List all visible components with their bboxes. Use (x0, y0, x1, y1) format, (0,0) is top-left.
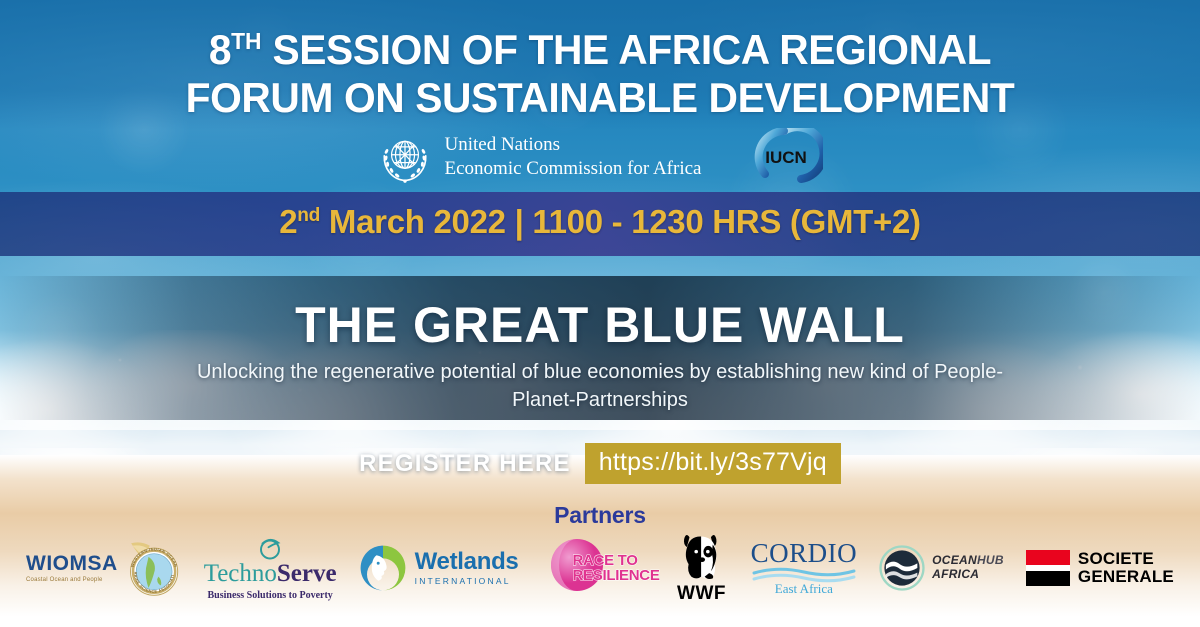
date-day-suffix: nd (297, 205, 320, 226)
date-rest: March 2022 | 1100 - 1230 HRS (GMT+2) (320, 203, 921, 240)
wetlands-wordmark: Wetlands INTERNATIONAL (415, 550, 519, 586)
un-line2: Economic Commission for Africa (445, 157, 702, 181)
oceanhub-wordmark: OCEANHUB AFRICA (932, 554, 1004, 582)
sg-line1: SOCIETE (1078, 550, 1174, 568)
technoserve-name-part2: Serve (277, 560, 337, 587)
organizer-logo-row: United Nations Economic Commission for A… (0, 128, 1200, 186)
subtitle: Unlocking the regenerative potential of … (0, 358, 1200, 415)
un-line1: United Nations (445, 133, 702, 157)
sg-line2: GENERALE (1078, 568, 1174, 586)
headline-line1-rest: SESSION OF THE AFRICA REGIONAL (262, 26, 992, 73)
r2r-line2: RESILIENCE (573, 568, 660, 583)
partner-logo-wetlands-international[interactable]: Wetlands INTERNATIONAL (359, 544, 519, 592)
technoserve-wordmark: TechnoServe (204, 561, 337, 586)
oceanhub-line1-a: OCEAN (932, 553, 977, 567)
partner-logo-wwf[interactable]: WWF (675, 532, 729, 605)
cordio-name: CORDIO (751, 540, 858, 567)
register-label: REGISTER HERE (359, 450, 571, 478)
date-day: 2 (279, 203, 297, 240)
wwf-panda-icon (675, 532, 729, 582)
wetlands-subname: INTERNATIONAL (415, 576, 511, 586)
oceanhub-line1: OCEANHUB (932, 554, 1004, 568)
societe-generale-mark-icon (1026, 550, 1070, 586)
un-emblem (377, 129, 433, 185)
sg-black-bar (1026, 571, 1070, 586)
wiomsa-tagline: Coastal Ocean and People (26, 577, 103, 583)
technoserve-swirl-icon (255, 535, 285, 561)
headline-ordinal: 8 (209, 26, 231, 73)
iucn-ring-icon: IUCN (745, 128, 823, 186)
register-block: REGISTER HERE https://bit.ly/3s77Vjq (0, 443, 1200, 484)
partner-logo-race-to-resilience[interactable]: RACE TO RESILIENCE (541, 537, 653, 599)
wiomsa-name: WIOMSA (26, 553, 118, 574)
wiomsa-wordmark: WIOMSA Coastal Ocean and People (26, 553, 118, 583)
event-date-time: 2nd March 2022 | 1100 - 1230 HRS (GMT+2) (0, 203, 1200, 241)
partner-logo-societe-generale[interactable]: SOCIETE GENERALE (1026, 550, 1174, 587)
partner-logo-wiomsa[interactable]: WIOMSA Coastal Ocean and People WESTERN … (26, 537, 182, 599)
banner-content: 8TH SESSION OF THE AFRICA REGIONAL FORUM… (0, 0, 1200, 627)
main-title: THE GREAT BLUE WALL (0, 296, 1200, 354)
un-eca-wordmark: United Nations Economic Commission for A… (445, 133, 702, 180)
event-banner: 8TH SESSION OF THE AFRICA REGIONAL FORUM… (0, 0, 1200, 627)
wetlands-name: Wetlands (415, 550, 519, 574)
oceanhub-line1-b: HUB (977, 553, 1004, 567)
un-eca-logo: United Nations Economic Commission for A… (377, 129, 702, 185)
partner-logo-oceanhub-africa[interactable]: OCEANHUB AFRICA (879, 545, 1004, 591)
iucn-logo: IUCN (745, 128, 823, 186)
technoserve-name-part1: Techno (204, 560, 277, 587)
wiomsa-globe-icon: WESTERN INDIAN OCEAN MARINE SCIENCE ASSO… (120, 537, 182, 599)
wetlands-face-icon (359, 544, 407, 592)
partner-logo-technoserve[interactable]: TechnoServe Business Solutions to Povert… (204, 535, 337, 601)
headline-line2: FORUM ON SUSTAINABLE DEVELOPMENT (186, 74, 1015, 121)
iucn-label: IUCN (766, 148, 808, 167)
oceanhub-wave-circle-icon (879, 545, 925, 591)
event-headline: 8TH SESSION OF THE AFRICA REGIONAL FORUM… (18, 26, 1182, 122)
technoserve-tagline: Business Solutions to Poverty (208, 590, 333, 601)
r2r-line1: RACE TO (573, 553, 660, 568)
sg-red-bar (1026, 550, 1070, 565)
headline-ordinal-suffix: TH (231, 28, 261, 54)
race-to-resilience-wordmark: RACE TO RESILIENCE (573, 553, 660, 584)
partner-logo-cordio-east-africa[interactable]: CORDIO East Africa (751, 540, 858, 597)
societe-generale-wordmark: SOCIETE GENERALE (1078, 550, 1174, 587)
cordio-subname: East Africa (775, 581, 833, 597)
register-link[interactable]: https://bit.ly/3s77Vjq (585, 443, 841, 484)
oceanhub-line2: AFRICA (932, 568, 979, 582)
wwf-name: WWF (677, 583, 726, 605)
partners-row: WIOMSA Coastal Ocean and People WESTERN … (0, 525, 1200, 611)
